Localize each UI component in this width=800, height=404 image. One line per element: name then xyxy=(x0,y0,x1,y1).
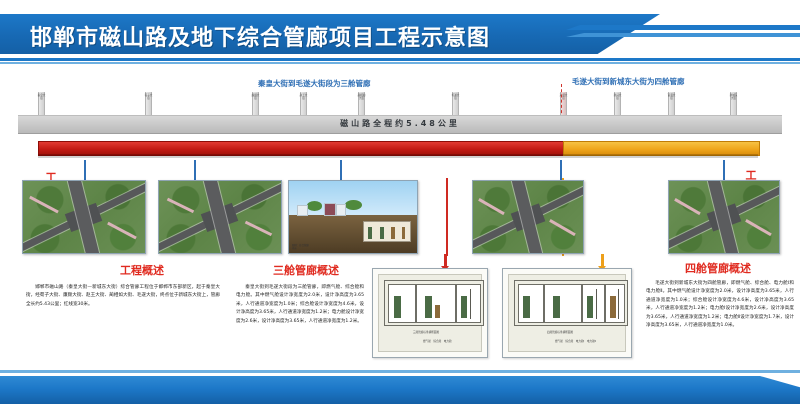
corridor-render-image: 图例：综合管廊 雨水 xyxy=(289,181,417,253)
arrow-stem xyxy=(601,254,604,266)
signboard: 邯郸市磁山路及地下综合管廊项目工程示意图 秦皇大街到毛遂大街段为三舱管廊 毛遂大… xyxy=(0,0,800,404)
photo-aerial-2[interactable] xyxy=(158,180,282,254)
cad-sheet: 三舱管廊标准横断面图 燃气舱 综合舱 电力舱 xyxy=(378,274,482,352)
intersection-area xyxy=(510,204,544,232)
tree-icon xyxy=(345,200,362,210)
sidewalk-path xyxy=(675,199,701,216)
aerial-image xyxy=(23,181,145,253)
pipe-icon xyxy=(402,227,406,239)
pipe-icon xyxy=(435,305,440,318)
cad-tunnel-outline xyxy=(384,280,484,326)
footer-banner xyxy=(0,370,800,404)
cad-chamber-gas xyxy=(518,284,544,323)
pipe-icon xyxy=(380,227,384,239)
connector-photo-4 xyxy=(560,160,562,180)
road-band: 磁山路全程约5.48公里 xyxy=(18,115,782,134)
cross-street-label: 廉颇大街 xyxy=(251,94,260,100)
page-title: 邯郸市磁山路及地下综合管廊项目工程示意图 xyxy=(30,20,490,52)
photo-aerial-1[interactable] xyxy=(22,180,146,254)
photo-aerial-3[interactable] xyxy=(472,180,584,254)
footer-accent-line xyxy=(0,370,800,373)
section-body-project-overview: 邯郸市磁山路（秦皇大街—新城东大街）综合管廊工程位于邯郸市东部新区，起于秦皇大街… xyxy=(26,284,220,309)
pipe-icon xyxy=(391,227,395,239)
cross-street-label: 富强大街 xyxy=(667,94,676,100)
sidewalk-path xyxy=(167,198,195,213)
section-title-project-overview: 工程概述 xyxy=(62,262,222,278)
intersection-area xyxy=(201,203,238,232)
connector-photo-3 xyxy=(340,160,342,180)
cable-rack xyxy=(596,289,602,319)
cable-rack xyxy=(470,289,477,319)
cross-street-label: 蔺相如大街 xyxy=(357,94,366,100)
road-schematic: 秦皇大街到毛遂大街段为三舱管廊 毛遂大街到新城东大街为四舱管廊 秦皇大街 荀子大… xyxy=(0,66,800,171)
cross-street-label: 赵王大街 xyxy=(299,94,308,100)
cross-street-label: 毛遂大街 xyxy=(451,94,460,100)
section-paragraph: 毛遂大街到新城东大街为四舱管廊，即燃气舱、综合舱、电力舱Ⅰ和电力舱Ⅱ。其中燃气舱… xyxy=(646,280,794,330)
footer-blue-block xyxy=(0,376,800,404)
arrow-stem xyxy=(444,254,447,266)
section-title-three-chamber: 三舱管廊概述 xyxy=(236,262,376,278)
cross-street-label: 新兴大街 xyxy=(613,94,622,100)
connector-photo-1 xyxy=(84,160,86,180)
sidewalk-path xyxy=(479,199,505,216)
section-paragraph: 秦皇大街到毛遂大街段为三舱管廊，即燃气舱、综合舱和电力舱。其中燃气舱设计净宽度为… xyxy=(236,284,364,326)
sidewalk-path xyxy=(29,195,58,212)
photo-aerial-4[interactable] xyxy=(668,180,780,254)
sidewalk-path xyxy=(745,219,771,236)
intersection-area xyxy=(706,204,740,232)
pipe-shadow xyxy=(38,154,758,158)
building-icon xyxy=(336,204,346,216)
section-body-three-chamber: 秦皇大街到毛遂大街段为三舱管廊，即燃气舱、综合舱和电力舱。其中燃气舱设计净宽度为… xyxy=(236,284,364,326)
cad-sheet: 四舱管廊标准横断面图 燃气舱 综合舱 电力舱Ⅰ 电力舱Ⅱ xyxy=(508,274,626,352)
cable-rack xyxy=(618,289,624,319)
pipe-icon xyxy=(425,296,432,318)
pipe-icon xyxy=(553,296,560,318)
aerial-image xyxy=(159,181,281,253)
pipe-icon xyxy=(394,296,401,318)
render-legend-line-2: 雨水 xyxy=(292,247,309,250)
building-icon xyxy=(297,205,308,216)
pipe-icon xyxy=(610,296,616,318)
cad-notes: 燃气舱 综合舱 电力舱Ⅰ 电力舱Ⅱ xyxy=(555,339,596,343)
cad-caption: 三舱管廊标准横断面图 xyxy=(413,330,439,334)
cross-street-label: 新城东大街 xyxy=(729,94,738,100)
sidewalk-path xyxy=(107,221,136,238)
cad-chamber-gas xyxy=(388,284,416,323)
building-icon xyxy=(324,203,336,217)
cad-tunnel-outline xyxy=(514,280,628,326)
cad-three-chamber-drawing[interactable]: 三舱管廊标准横断面图 燃气舱 综合舱 电力舱 xyxy=(372,268,488,358)
connector-photo-5 xyxy=(723,160,725,180)
aerial-image xyxy=(473,181,583,253)
intersection-area xyxy=(65,203,102,232)
segment-label-four-chamber: 毛遂大街到新城东大街为四舱管廊 xyxy=(572,76,685,87)
header-accent-line-1 xyxy=(566,25,800,30)
cross-street-label: 秦皇大街 xyxy=(37,94,46,100)
cad-chamber-power xyxy=(456,284,481,323)
cad-notes: 燃气舱 综合舱 电力舱 xyxy=(423,339,452,343)
pipe-icon xyxy=(587,296,593,318)
sidewalk-path xyxy=(549,219,575,236)
aerial-image xyxy=(669,181,779,253)
render-legend: 图例：综合管廊 雨水 xyxy=(292,244,309,250)
header-rule-secondary xyxy=(0,62,800,64)
sidewalk-path xyxy=(245,221,273,236)
section-body-four-chamber: 毛遂大街到新城东大街为四舱管廊，即燃气舱、综合舱、电力舱Ⅰ和电力舱Ⅱ。其中燃气舱… xyxy=(646,280,794,330)
guide-line-three-chamber xyxy=(446,178,448,256)
segment-label-three-chamber: 秦皇大街到毛遂大街段为三舱管廊 xyxy=(258,78,371,89)
connector-photo-2 xyxy=(194,160,196,180)
header-banner: 邯郸市磁山路及地下综合管廊项目工程示意图 xyxy=(0,14,800,54)
header-accent-line-2 xyxy=(566,33,800,37)
pipe-icon xyxy=(461,296,467,318)
header-rule-primary xyxy=(0,58,800,61)
cad-chamber-comprehensive xyxy=(544,284,582,323)
section-title-four-chamber: 四舱管廊概述 xyxy=(648,260,788,276)
pipe-icon xyxy=(368,227,372,239)
cad-caption: 四舱管廊标准横断面图 xyxy=(547,330,573,334)
road-length-label: 磁山路全程约5.48公里 xyxy=(18,118,782,129)
cad-four-chamber-drawing[interactable]: 四舱管廊标准横断面图 燃气舱 综合舱 电力舱Ⅰ 电力舱Ⅱ xyxy=(502,268,632,358)
section-paragraph: 邯郸市磁山路（秦皇大街—新城东大街）综合管廊工程位于邯郸市东部新区，起于秦皇大街… xyxy=(26,284,220,309)
photo-corridor-render[interactable]: 图例：综合管廊 雨水 xyxy=(288,180,418,254)
cross-street-label: 荀子大街 xyxy=(144,94,153,100)
pipe-icon xyxy=(523,296,530,318)
tree-icon xyxy=(307,201,322,210)
